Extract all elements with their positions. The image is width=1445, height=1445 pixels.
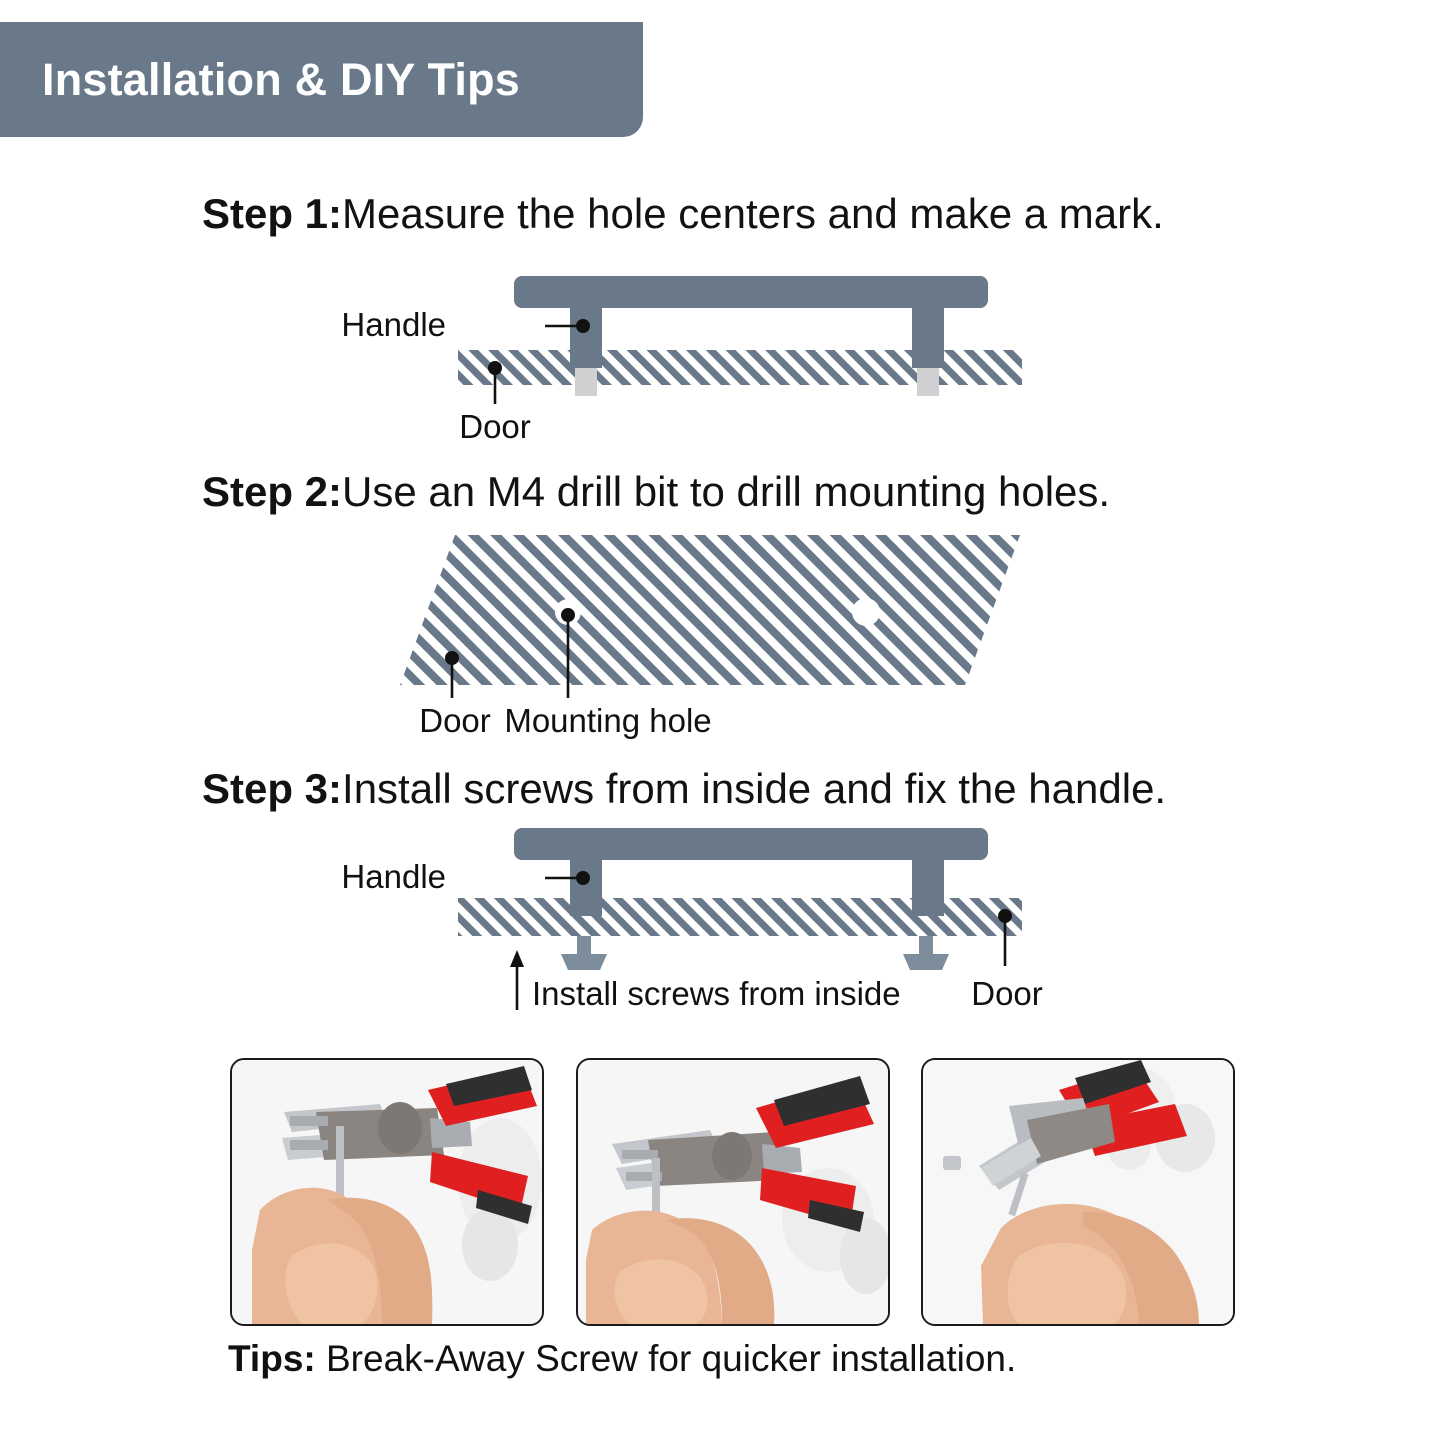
step-3-text: Install screws from inside and fix the h…	[342, 765, 1166, 812]
step-2-diagram: Door Mounting hole	[0, 520, 1445, 750]
infographic-page: Installation & DIY Tips Step 1:Measure t…	[0, 0, 1445, 1445]
tips-label: Tips:	[228, 1338, 316, 1379]
step-3-diagram: Handle Install screws from inside Door	[0, 820, 1445, 1030]
step-3-heading: Step 3:Install screws from inside and fi…	[202, 765, 1166, 813]
callout-handle-label: Handle	[341, 858, 446, 895]
header-banner: Installation & DIY Tips	[0, 22, 643, 137]
mounting-hole-2	[852, 598, 880, 626]
step-2-text: Use an M4 drill bit to drill mounting ho…	[342, 468, 1110, 515]
photo-pliers-twist-screw	[576, 1058, 890, 1326]
callout-install-screws-arrow	[510, 950, 524, 1010]
step-3-label: Step 3:	[202, 765, 342, 812]
photo-screw-snapped-off	[921, 1058, 1235, 1326]
callout-door	[998, 909, 1012, 966]
callout-install-screws-label: Install screws from inside	[532, 975, 901, 1012]
callout-handle	[545, 319, 590, 333]
tips-line: Tips: Break-Away Screw for quicker insta…	[228, 1338, 1016, 1380]
photo-pliers-grip-screw	[230, 1058, 544, 1326]
step-1-text: Measure the hole centers and make a mark…	[342, 190, 1164, 237]
callout-handle-label: Handle	[341, 306, 446, 343]
broken-screw-piece	[943, 1156, 961, 1170]
tips-text: Break-Away Screw for quicker installatio…	[326, 1338, 1016, 1379]
callout-door-label: Door	[419, 702, 491, 739]
step-1-label: Step 1:	[202, 190, 342, 237]
callout-handle	[545, 871, 590, 885]
page-title: Installation & DIY Tips	[42, 54, 520, 106]
door-panel	[400, 535, 1020, 685]
callout-mounting-hole-label: Mounting hole	[504, 702, 711, 739]
step-2-label: Step 2:	[202, 468, 342, 515]
photo-strip	[230, 1058, 1235, 1322]
callout-door-label: Door	[971, 975, 1043, 1012]
step-2-heading: Step 2:Use an M4 drill bit to drill moun…	[202, 468, 1110, 516]
callout-door-label: Door	[459, 408, 531, 445]
step-1-diagram: Handle Door	[0, 258, 1445, 448]
step-1-heading: Step 1:Measure the hole centers and make…	[202, 190, 1164, 238]
